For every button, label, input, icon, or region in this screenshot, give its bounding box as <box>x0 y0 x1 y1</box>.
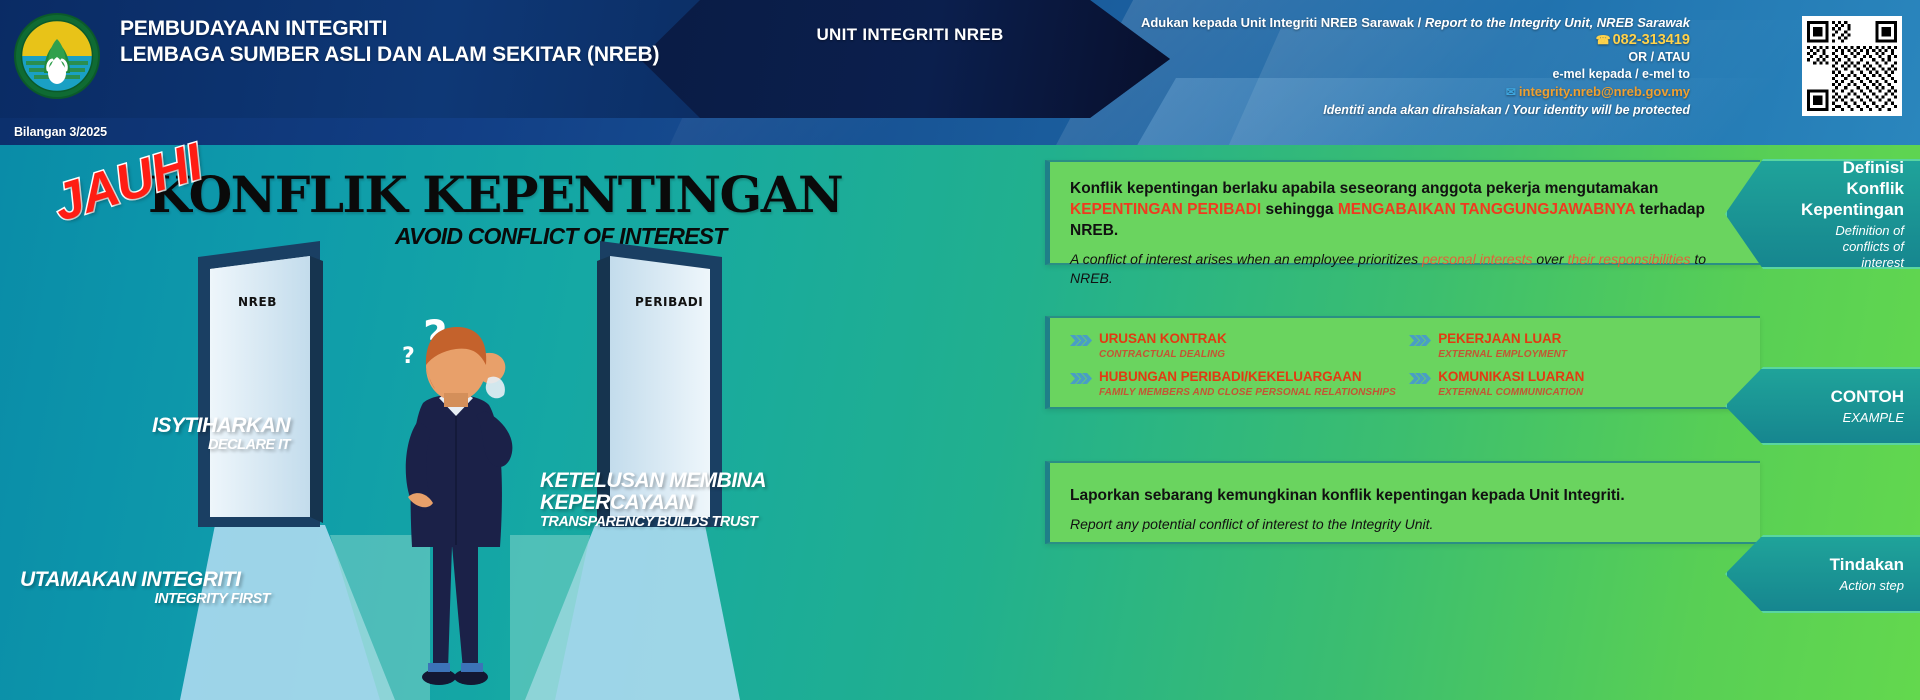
action-text-en: Report any potential conflict of interes… <box>1070 515 1742 534</box>
privacy-note: Identiti anda akan dirahsiakan / Your id… <box>920 102 1690 119</box>
doors-illustration: ? ? ? <box>180 235 740 700</box>
or-text: OR / ATAU <box>920 49 1690 66</box>
tab-definition-title-3: Kepentingan <box>1801 199 1904 220</box>
content-column: Konflik kepentingan berlaku apabila sese… <box>1045 160 1760 544</box>
definition-en-part2: over <box>1533 251 1568 267</box>
tab-examples-sub: EXAMPLE <box>1843 410 1904 426</box>
definition-my-red1: KEPENTINGAN PERIBADI <box>1070 201 1261 218</box>
hero-zone: JAUHI KONFLIK KEPENTINGAN AVOID CONFLICT… <box>0 145 1040 700</box>
infographic-poster: PEMBUDAYAAN INTEGRITI LEMBAGA SUMBER ASL… <box>0 0 1920 700</box>
action-text-my: Laporkan sebarang kemungkinan konflik ke… <box>1070 485 1742 506</box>
examples-grid: URUSAN KONTRAK CONTRACTUAL DEALING <box>1070 330 1750 406</box>
example-text: HUBUNGAN PERIBADI/KEKELUARGAAN FAMILY ME… <box>1099 368 1396 399</box>
label-integrity-en: INTEGRITY FIRST <box>20 591 270 607</box>
tab-definition[interactable]: Definisi Konflik Kepentingan Definition … <box>1725 159 1920 269</box>
email-address: integrity.nreb@nreb.gov.my <box>1519 84 1690 99</box>
page-header: PEMBUDAYAAN INTEGRITI LEMBAGA SUMBER ASL… <box>0 0 1920 145</box>
examples-column-right: PEKERJAAN LUAR EXTERNAL EMPLOYMENT <box>1409 330 1742 406</box>
example-item: HUBUNGAN PERIBADI/KEKELUARGAAN FAMILY ME… <box>1070 368 1403 399</box>
example-item: URUSAN KONTRAK CONTRACTUAL DEALING <box>1070 330 1403 361</box>
definition-my-part1: Konflik kepentingan berlaku apabila sese… <box>1070 180 1658 197</box>
examples-card: URUSAN KONTRAK CONTRACTUAL DEALING <box>1045 316 1760 409</box>
phone-number: 082-313419 <box>1613 32 1690 48</box>
tab-action-title: Tindakan <box>1830 554 1904 575</box>
label-trust: KETELUSAN MEMBINA KEPERCAYAAN TRANSPAREN… <box>540 470 820 530</box>
report-separator: / <box>1418 15 1422 30</box>
triple-chevron-icon <box>1070 371 1092 389</box>
triple-chevron-icon <box>1409 333 1431 351</box>
example-item: KOMUNIKASI LUARAN EXTERNAL COMMUNICATION <box>1409 368 1742 399</box>
label-trust-my-2: KEPERCAYAAN <box>540 492 820 514</box>
example-title-en: EXTERNAL COMMUNICATION <box>1438 387 1584 399</box>
definition-en-part1: A conflict of interest arises when an em… <box>1070 251 1422 267</box>
qr-code[interactable] <box>1802 16 1902 116</box>
example-title-my: KOMUNIKASI LUARAN <box>1438 369 1584 384</box>
phone-icon: ☎ <box>1596 33 1611 47</box>
example-title-my: PEKERJAAN LUAR <box>1438 331 1561 346</box>
label-declare-my: ISYTIHARKAN <box>85 415 290 437</box>
definition-en-red2: their responsibilities <box>1568 251 1691 267</box>
label-trust-my-1: KETELUSAN MEMBINA <box>540 470 820 492</box>
tab-action[interactable]: Tindakan Action step <box>1725 535 1920 613</box>
tab-definition-sub-2: conflicts of <box>1843 239 1904 255</box>
tab-examples-title: CONTOH <box>1831 386 1904 407</box>
svg-text:?: ? <box>402 344 415 369</box>
tab-definition-title-2: Konflik <box>1846 178 1904 199</box>
org-line-2: LEMBAGA SUMBER ASLI DAN ALAM SEKITAR (NR… <box>120 42 659 68</box>
triple-chevron-icon <box>1070 333 1092 351</box>
email-line[interactable]: ✉integrity.nreb@nreb.gov.my <box>920 83 1690 101</box>
tab-definition-sub-1: Definition of <box>1835 223 1904 239</box>
label-declare: ISYTIHARKAN DECLARE IT <box>85 415 290 453</box>
example-text: PEKERJAAN LUAR EXTERNAL EMPLOYMENT <box>1438 330 1567 361</box>
email-label: e-mel kepada / e-mel to <box>920 66 1690 83</box>
label-declare-en: DECLARE IT <box>85 437 290 453</box>
envelope-icon: ✉ <box>1506 85 1516 99</box>
definition-my-part2: sehingga <box>1261 201 1338 218</box>
door-label-left: NREB <box>238 295 277 309</box>
definition-text-my: Konflik kepentingan berlaku apabila sese… <box>1070 178 1742 241</box>
example-title-my: URUSAN KONTRAK <box>1099 331 1227 346</box>
report-label-en: Report to the Integrity Unit, NREB Saraw… <box>1425 15 1690 30</box>
nreb-logo <box>14 13 100 99</box>
report-label-my: Adukan kepada Unit Integriti NREB Sarawa… <box>1141 15 1414 30</box>
action-card: Laporkan sebarang kemungkinan konflik ke… <box>1045 461 1760 544</box>
organisation-title: PEMBUDAYAAN INTEGRITI LEMBAGA SUMBER ASL… <box>120 16 659 68</box>
hero-title: KONFLIK KEPENTINGAN <box>148 167 842 223</box>
tab-examples[interactable]: CONTOH EXAMPLE <box>1725 367 1920 445</box>
example-title-my: HUBUNGAN PERIBADI/KEKELUARGAAN <box>1099 369 1362 384</box>
example-item: PEKERJAAN LUAR EXTERNAL EMPLOYMENT <box>1409 330 1742 361</box>
tab-definition-title-1: Definisi <box>1843 157 1904 178</box>
report-line: Adukan kepada Unit Integriti NREB Sarawa… <box>920 14 1690 31</box>
tab-action-sub: Action step <box>1840 578 1904 594</box>
example-title-en: FAMILY MEMBERS AND CLOSE PERSONAL RELATI… <box>1099 387 1396 399</box>
label-trust-en: TRANSPARENCY BUILDS TRUST <box>540 514 820 530</box>
door-label-right: PERIBADI <box>635 295 703 309</box>
org-line-1: PEMBUDAYAAN INTEGRITI <box>120 16 659 42</box>
definition-my-red2: MENGABAIKAN TANGGUNGJAWABNYA <box>1338 201 1635 218</box>
triple-chevron-icon <box>1409 371 1431 389</box>
example-title-en: EXTERNAL EMPLOYMENT <box>1438 349 1567 361</box>
tab-definition-sub-3: interest <box>1861 255 1904 271</box>
label-integrity: UTAMAKAN INTEGRITI INTEGRITY FIRST <box>20 569 270 607</box>
example-text: KOMUNIKASI LUARAN EXTERNAL COMMUNICATION <box>1438 368 1584 399</box>
poster-body: JAUHI KONFLIK KEPENTINGAN AVOID CONFLICT… <box>0 145 1920 700</box>
issue-number: Bilangan 3/2025 <box>14 125 107 139</box>
phone-line[interactable]: ☎082-313419 <box>920 32 1690 49</box>
definition-en-red1: personal interests <box>1422 251 1533 267</box>
example-text: URUSAN KONTRAK CONTRACTUAL DEALING <box>1099 330 1227 361</box>
examples-column-left: URUSAN KONTRAK CONTRACTUAL DEALING <box>1070 330 1403 406</box>
example-title-en: CONTRACTUAL DEALING <box>1099 349 1227 361</box>
definition-card: Konflik kepentingan berlaku apabila sese… <box>1045 160 1760 265</box>
label-integrity-my: UTAMAKAN INTEGRITI <box>20 569 270 591</box>
definition-text-en: A conflict of interest arises when an em… <box>1070 250 1742 288</box>
contact-block: Adukan kepada Unit Integriti NREB Sarawa… <box>920 14 1690 119</box>
